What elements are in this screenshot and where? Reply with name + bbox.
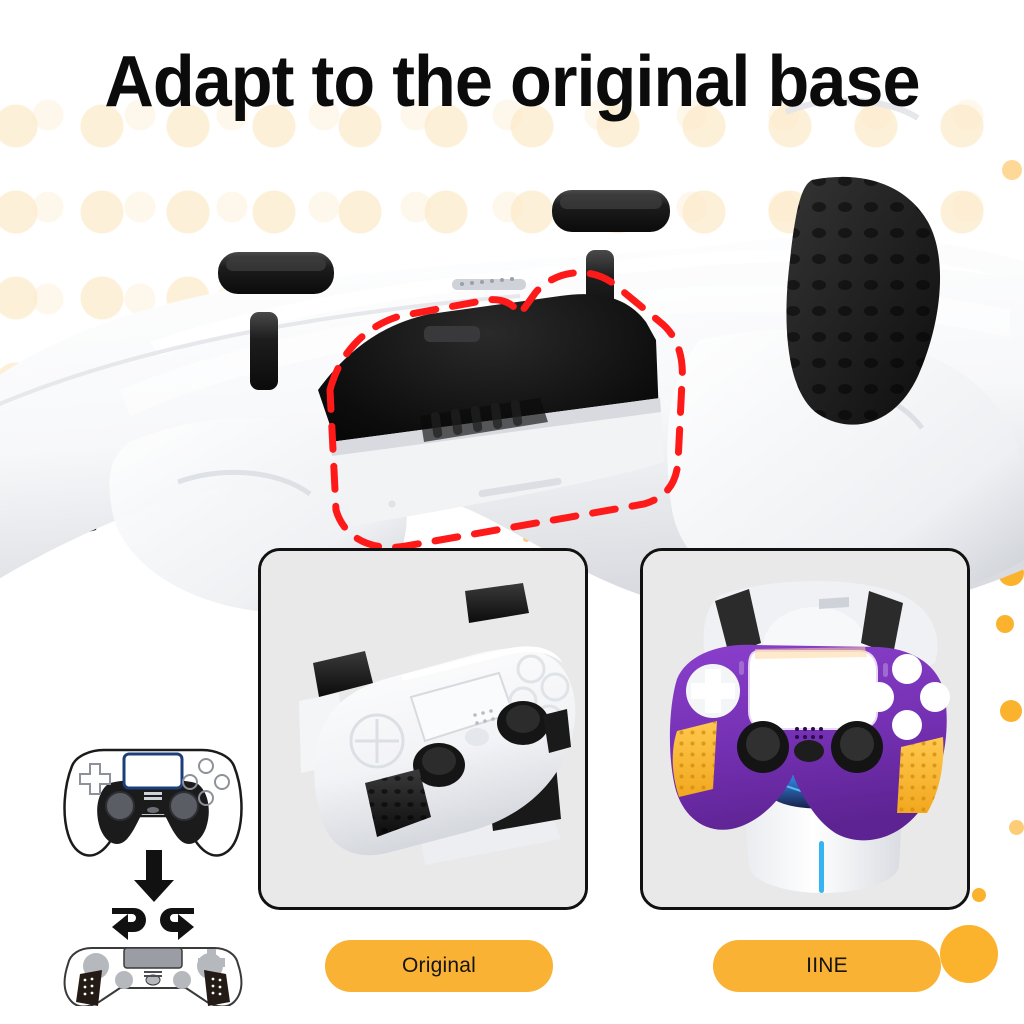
page-title: Adapt to the original base	[26, 46, 999, 118]
panel-original[interactable]	[258, 548, 588, 910]
dpad	[686, 664, 740, 718]
home-button	[465, 728, 489, 746]
silicone-case-outline-icon	[65, 948, 242, 1006]
original-label[interactable]: Original	[325, 940, 553, 992]
panel-iine[interactable]	[640, 548, 970, 910]
installation-diagram	[46, 744, 260, 1006]
arrow-down-icon	[134, 850, 174, 902]
dpad	[351, 715, 403, 767]
banner-stage: Adapt to the original base	[0, 0, 1024, 1024]
decor-dot	[940, 925, 998, 983]
led-strip	[819, 841, 824, 893]
grip-pad-left	[673, 721, 717, 797]
dualsense-controller-front-icon	[65, 750, 242, 855]
touchpad-window	[749, 651, 877, 729]
home-button	[794, 740, 824, 762]
iine-label[interactable]: IINE	[713, 940, 941, 992]
flip-arrows-icon	[112, 908, 194, 940]
